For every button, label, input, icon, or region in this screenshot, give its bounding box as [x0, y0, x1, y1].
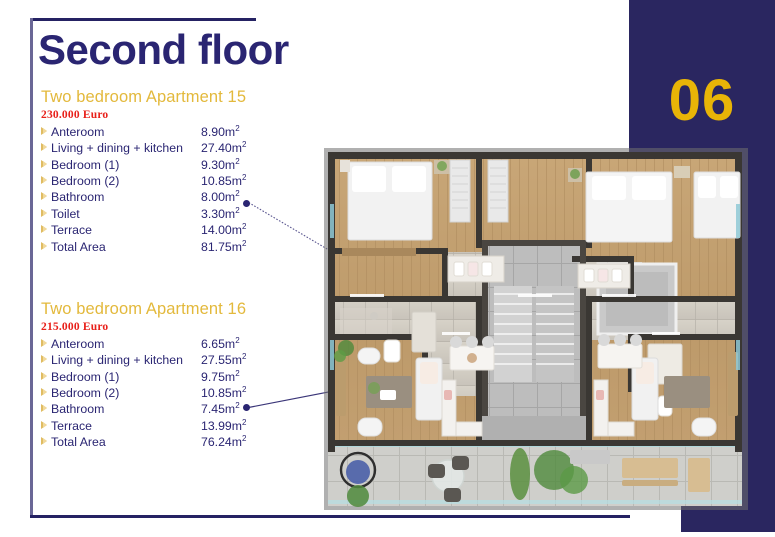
room-name: Bathroom — [51, 190, 201, 204]
arrow-bullet-icon — [41, 242, 51, 250]
room-name: Anteroom — [51, 125, 201, 139]
room-row: Toilet3.30m2 — [41, 206, 291, 222]
arrow-bullet-icon — [41, 355, 51, 363]
room-name: Total Area — [51, 240, 201, 254]
arrow-bullet-icon — [41, 143, 51, 151]
room-name: Bedroom (2) — [51, 386, 201, 400]
apartment-block-15: Two bedroom Apartment 15 230.000 Euro An… — [41, 88, 291, 255]
arrow-bullet-icon — [41, 176, 51, 184]
room-name: Bedroom (1) — [51, 370, 201, 384]
room-name: Total Area — [51, 435, 201, 449]
slide-page: 06 Second floor Two bedroom Apartment 15… — [0, 0, 775, 537]
floorplan-render — [322, 144, 748, 512]
room-name: Toilet — [51, 207, 201, 221]
room-row: Bathroom7.45m2 — [41, 401, 291, 417]
arrow-bullet-icon — [41, 388, 51, 396]
room-row: Living + dining + kitchen27.40m2 — [41, 140, 291, 156]
room-area: 10.85m2 — [201, 385, 246, 400]
room-row: Anteroom8.90m2 — [41, 124, 291, 140]
room-area: 76.24m2 — [201, 434, 246, 449]
room-name: Bedroom (2) — [51, 174, 201, 188]
room-row: Terrace14.00m2 — [41, 222, 291, 238]
room-area: 10.85m2 — [201, 173, 246, 188]
room-row: Total Area76.24m2 — [41, 434, 291, 450]
page-number: 06 — [629, 72, 775, 130]
apartment-15-room-list: Anteroom8.90m2Living + dining + kitchen2… — [41, 124, 291, 255]
room-row: Anteroom6.65m2 — [41, 336, 291, 352]
room-name: Terrace — [51, 223, 201, 237]
room-area: 8.00m2 — [201, 189, 240, 204]
room-row: Bedroom (1)9.75m2 — [41, 369, 291, 385]
arrow-bullet-icon — [41, 372, 51, 380]
room-area: 14.00m2 — [201, 222, 246, 237]
room-row: Bedroom (2)10.85m2 — [41, 173, 291, 189]
apartment-16-room-list: Anteroom6.65m2Living + dining + kitchen2… — [41, 336, 291, 451]
room-name: Living + dining + kitchen — [51, 141, 201, 155]
apartment-15-heading: Two bedroom Apartment 15 — [41, 88, 291, 108]
room-area: 27.55m2 — [201, 352, 246, 367]
room-area: 6.65m2 — [201, 336, 240, 351]
room-area: 8.90m2 — [201, 124, 240, 139]
arrow-bullet-icon — [41, 404, 51, 412]
room-row: Living + dining + kitchen27.55m2 — [41, 352, 291, 368]
room-row: Terrace13.99m2 — [41, 418, 291, 434]
room-name: Terrace — [51, 419, 201, 433]
arrow-bullet-icon — [41, 127, 51, 135]
frame-top-rule — [30, 18, 256, 21]
room-name: Bathroom — [51, 402, 201, 416]
room-name: Anteroom — [51, 337, 201, 351]
leader-dot-apartment-15-bathroom — [243, 200, 250, 207]
room-name: Living + dining + kitchen — [51, 353, 201, 367]
room-area: 7.45m2 — [201, 401, 240, 416]
frame-left-rule — [30, 18, 33, 518]
apartment-15-price: 230.000 Euro — [41, 109, 291, 121]
room-row: Bedroom (1)9.30m2 — [41, 157, 291, 173]
room-area: 3.30m2 — [201, 206, 240, 221]
frame-bottom-rule — [30, 515, 630, 518]
apartment-block-16: Two bedroom Apartment 16 215.000 Euro An… — [41, 300, 291, 451]
apartment-16-heading: Two bedroom Apartment 16 — [41, 300, 291, 320]
apartment-16-price: 215.000 Euro — [41, 321, 291, 333]
room-row: Total Area81.75m2 — [41, 239, 291, 255]
room-area: 9.30m2 — [201, 157, 240, 172]
arrow-bullet-icon — [41, 421, 51, 429]
room-area: 81.75m2 — [201, 239, 246, 254]
arrow-bullet-icon — [41, 225, 51, 233]
arrow-bullet-icon — [41, 339, 51, 347]
room-area: 13.99m2 — [201, 418, 246, 433]
leader-dot-apartment-16-bathroom — [243, 404, 250, 411]
room-row: Bedroom (2)10.85m2 — [41, 385, 291, 401]
room-row: Bathroom8.00m2 — [41, 189, 291, 205]
arrow-bullet-icon — [41, 437, 51, 445]
room-area: 9.75m2 — [201, 369, 240, 384]
room-name: Bedroom (1) — [51, 158, 201, 172]
arrow-bullet-icon — [41, 209, 51, 217]
room-area: 27.40m2 — [201, 140, 246, 155]
floorplan-canvas — [322, 144, 748, 512]
arrow-bullet-icon — [41, 160, 51, 168]
page-title: Second floor — [38, 28, 289, 72]
arrow-bullet-icon — [41, 192, 51, 200]
